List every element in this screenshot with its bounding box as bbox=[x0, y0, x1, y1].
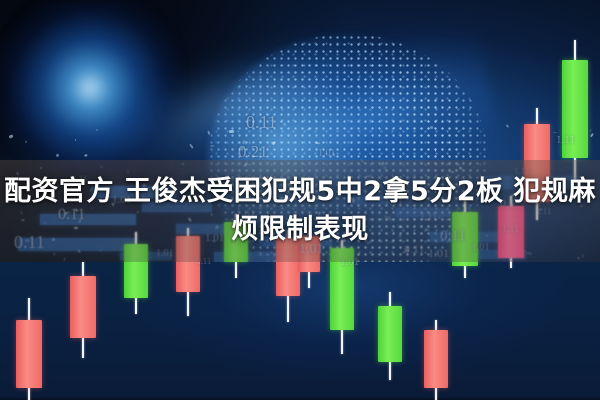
overlay-number: 1.01 bbox=[318, 148, 336, 159]
overlay-number: 0.11 bbox=[246, 112, 277, 133]
overlay-number: 0.21 bbox=[238, 142, 268, 162]
banner-image: 0.110.111.011.111.011.011.010.110.211.01… bbox=[0, 0, 600, 400]
headline-band bbox=[0, 160, 600, 262]
overlay-number: 1.11 bbox=[556, 134, 575, 146]
